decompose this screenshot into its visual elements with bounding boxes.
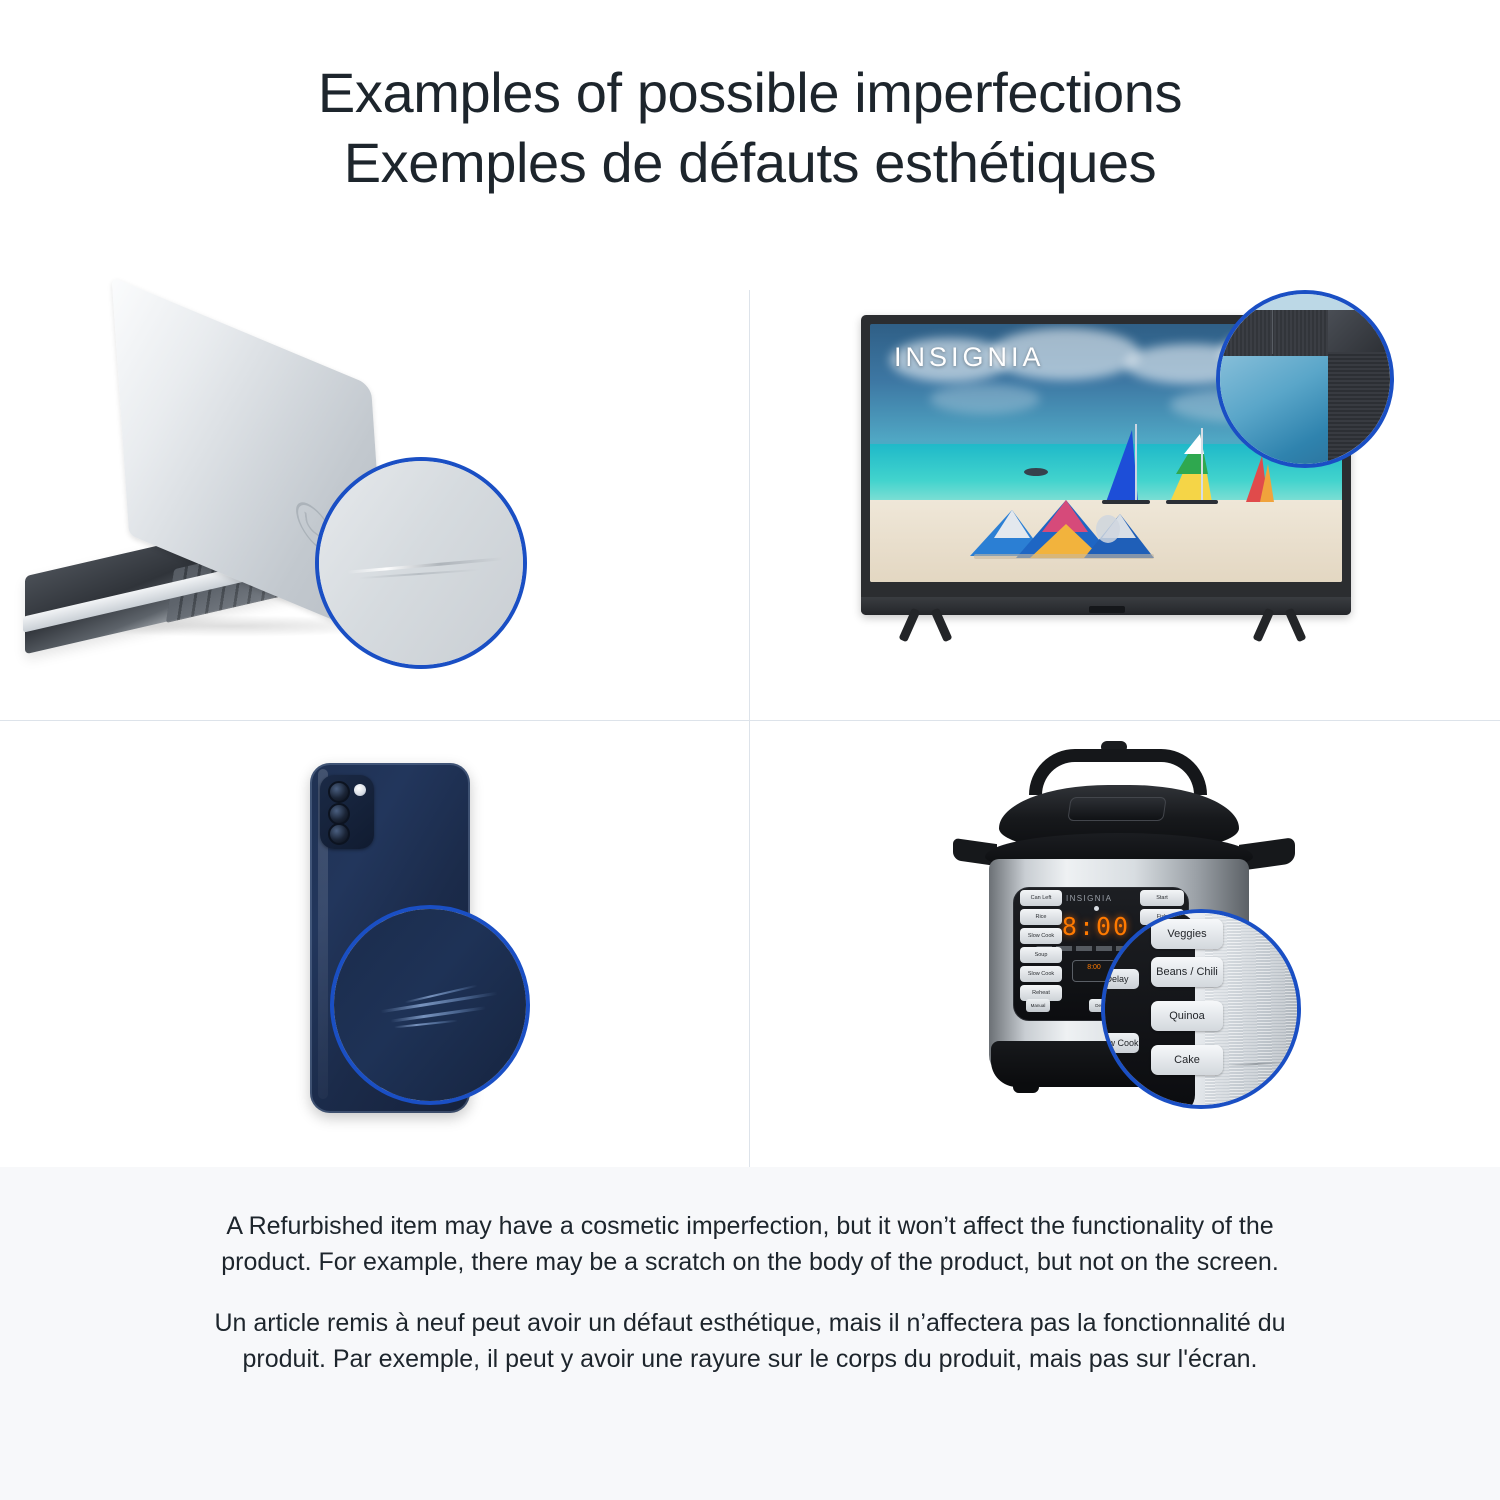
laptop-illustration xyxy=(20,325,520,665)
cooker-button[interactable]: Slow Cook xyxy=(1020,966,1062,982)
cooker-button[interactable]: Soup xyxy=(1020,947,1062,963)
grid-divider-vertical xyxy=(749,290,750,1167)
example-cell-pressure-cooker: INSIGNIA 8:00 8:00 Can Left Rice Slow Co… xyxy=(751,721,1500,1177)
examples-grid: INSIGNIA xyxy=(0,255,1500,1167)
magnifier-fill-laptop xyxy=(319,461,523,665)
cooker-button[interactable]: Start xyxy=(1140,890,1184,906)
title-line-english: Examples of possible imperfections xyxy=(318,58,1182,127)
television-illustration: INSIGNIA xyxy=(861,290,1381,680)
television-foot-left xyxy=(899,608,955,642)
magnified-button-cake: Cake xyxy=(1151,1045,1223,1075)
footer-description: A Refurbished item may have a cosmetic i… xyxy=(0,1167,1500,1500)
magnified-button-beans-chili: Beans / Chili xyxy=(1151,957,1223,987)
description-paragraph-english: A Refurbished item may have a cosmetic i… xyxy=(180,1209,1320,1280)
refurbished-imperfections-infographic: Examples of possible imperfections Exemp… xyxy=(0,0,1500,1500)
television-brand-logo: INSIGNIA xyxy=(894,342,1045,373)
magnifier-circle-laptop xyxy=(315,457,527,669)
cooker-foot-left xyxy=(1013,1083,1039,1093)
cooker-indicator-light-icon xyxy=(1094,906,1099,911)
page-title: Examples of possible imperfections Exemp… xyxy=(0,0,1500,255)
pressure-cooker-illustration: INSIGNIA 8:00 8:00 Can Left Rice Slow Co… xyxy=(951,741,1331,1151)
description-paragraph-french: Un article remis à neuf peut avoir un dé… xyxy=(180,1306,1320,1377)
example-cell-laptop xyxy=(0,255,749,711)
cooker-button-column-left[interactable]: Can Left Rice Slow Cook Soup Slow Cook R… xyxy=(1020,890,1062,1004)
camera-flash-icon xyxy=(354,784,366,796)
magnifier-circle-television xyxy=(1216,290,1394,468)
cooker-valve-plate xyxy=(1067,797,1166,821)
smartphone-camera-module xyxy=(320,775,374,849)
magnifier-circle-pressure-cooker: Delay Slow Cook Veggies Beans / Chili Qu… xyxy=(1101,909,1301,1109)
smartphone-illustration xyxy=(270,763,530,1143)
magnified-corner-scuff xyxy=(1328,310,1394,352)
magnified-button-veggies: Veggies xyxy=(1151,919,1223,949)
magnifier-circle-smartphone xyxy=(330,905,530,1105)
cooker-button[interactable]: Manual xyxy=(1026,999,1050,1012)
magnified-button-delay: Delay xyxy=(1101,969,1139,989)
magnified-screen-area xyxy=(1216,350,1336,468)
camera-lens-icon xyxy=(328,823,350,845)
cooker-brand-logo: INSIGNIA xyxy=(1066,894,1112,903)
magnified-button-slow-cook: Slow Cook xyxy=(1101,1033,1139,1053)
title-line-french: Exemples de défauts esthétiques xyxy=(344,128,1157,197)
cooker-button[interactable]: Can Left xyxy=(1020,890,1062,906)
magnified-bezel-seam xyxy=(1272,310,1273,354)
cooker-button[interactable]: Slow Cook xyxy=(1020,928,1062,944)
camera-lens-icon xyxy=(328,781,350,803)
example-cell-television: INSIGNIA xyxy=(751,255,1500,711)
cooker-button[interactable]: Rice xyxy=(1020,909,1062,925)
example-cell-smartphone xyxy=(0,721,749,1177)
camera-lens-icon xyxy=(328,803,350,825)
television-ir-sensor-icon xyxy=(1089,606,1125,613)
magnified-button-quinoa: Quinoa xyxy=(1151,1001,1223,1031)
television-foot-right xyxy=(1253,608,1309,642)
